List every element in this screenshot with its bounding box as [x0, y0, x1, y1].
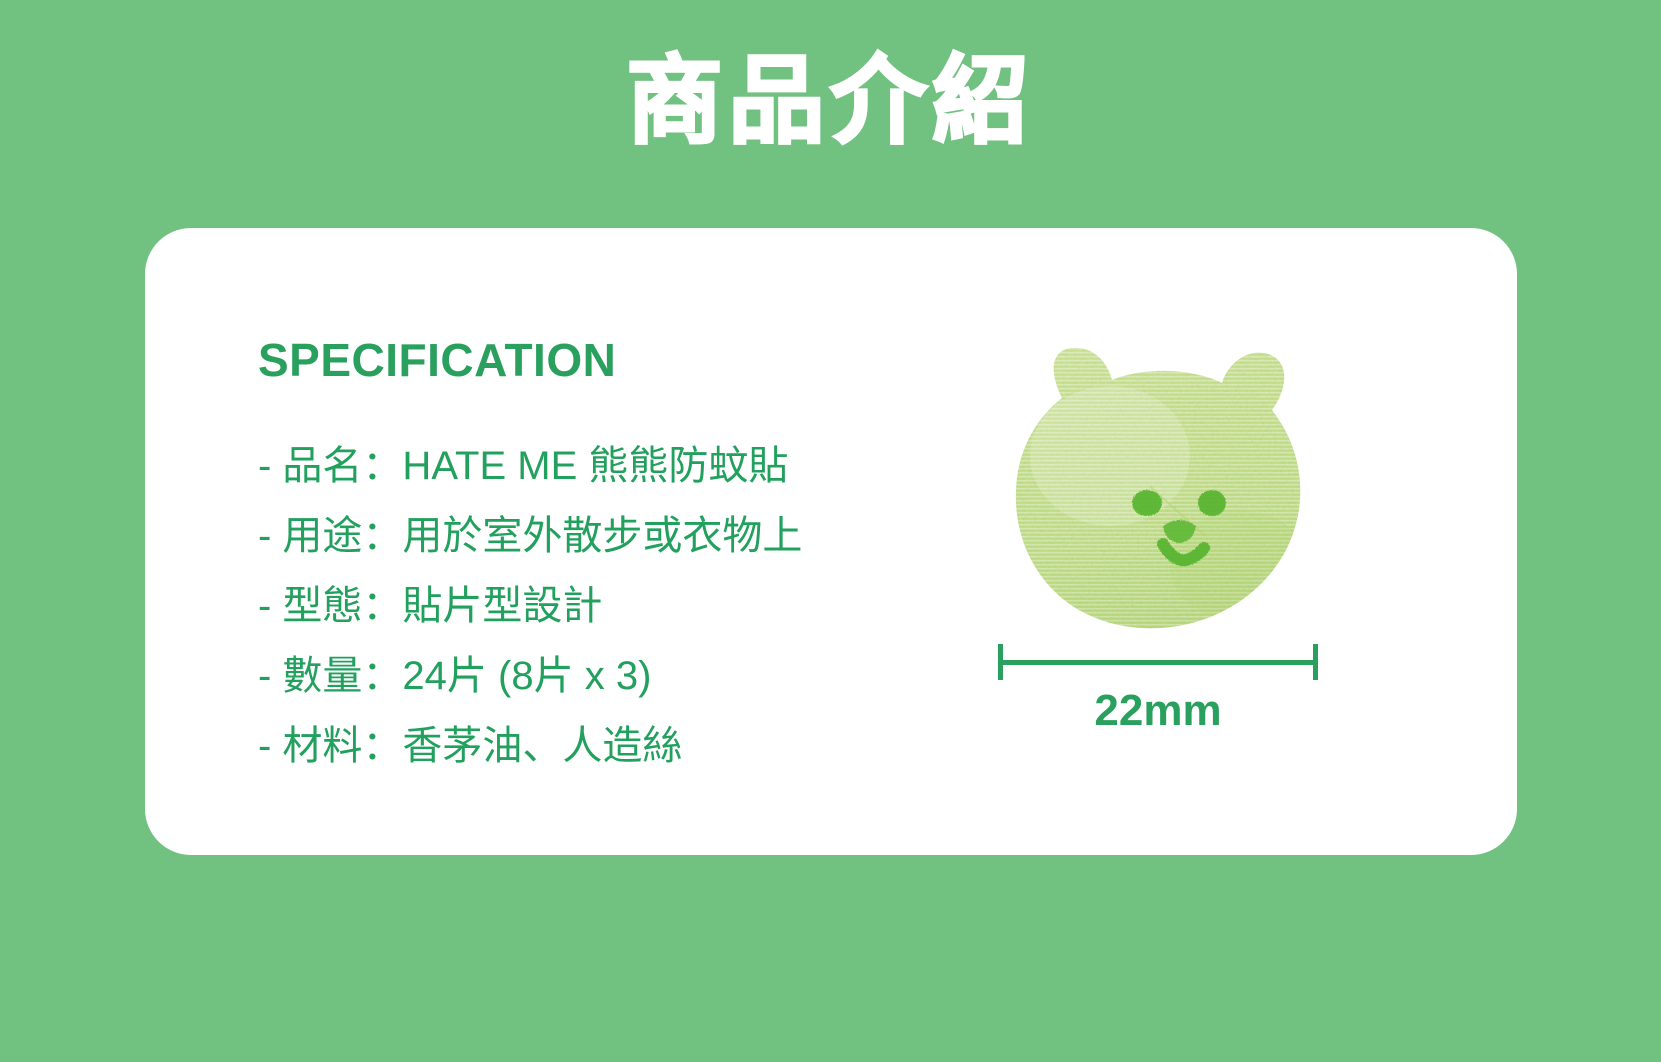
list-item: - 數量：24片 (8片 x 3) — [258, 641, 978, 711]
page-title: 商品介紹 — [0, 46, 1661, 156]
specification-heading: SPECIFICATION — [258, 333, 978, 387]
list-item: - 用途：用於室外散步或衣物上 — [258, 501, 978, 571]
bear-patch-image — [1000, 336, 1315, 636]
dimension-rule — [998, 660, 1318, 665]
dimension-cap-right — [1313, 644, 1318, 680]
specification-card: SPECIFICATION - 品名：HATE ME 熊熊防蚊貼 - 用途：用於… — [145, 228, 1517, 855]
list-item: - 品名：HATE ME 熊熊防蚊貼 — [258, 431, 978, 501]
specification-list: - 品名：HATE ME 熊熊防蚊貼 - 用途：用於室外散步或衣物上 - 型態：… — [258, 431, 978, 781]
specification-text-column: SPECIFICATION - 品名：HATE ME 熊熊防蚊貼 - 用途：用於… — [258, 333, 978, 781]
list-item: - 型態：貼片型設計 — [258, 571, 978, 641]
product-figure: 22mm — [975, 336, 1395, 756]
list-item: - 材料：香茅油、人造絲 — [258, 711, 978, 781]
dimension-line — [998, 644, 1318, 678]
dimension-label: 22mm — [975, 686, 1341, 736]
